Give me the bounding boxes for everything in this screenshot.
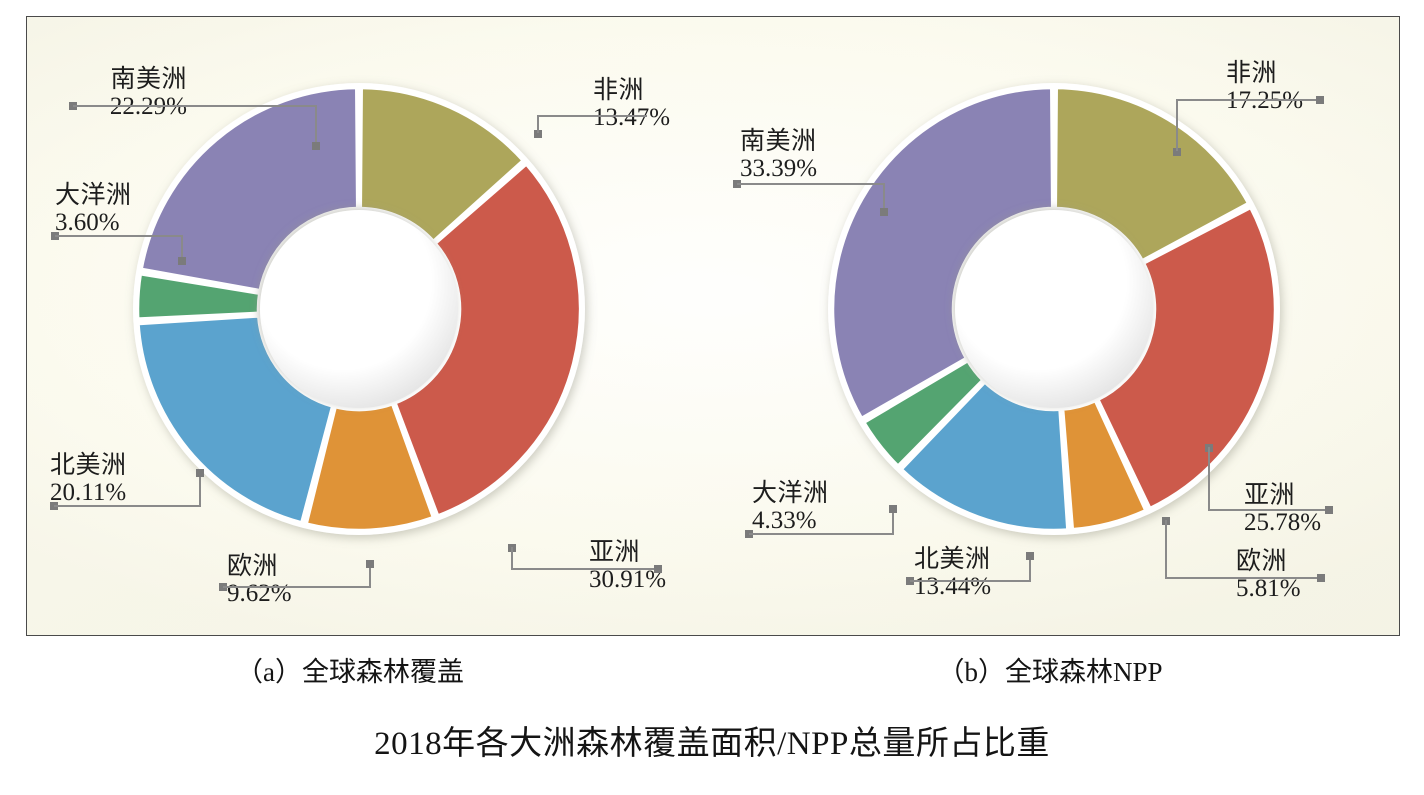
leader-line — [511, 547, 513, 570]
leader-line — [55, 235, 183, 237]
leader-line — [1165, 577, 1320, 579]
label-name: 北美洲 — [50, 453, 210, 478]
caption-chart-a: （a）全球森林覆盖 — [70, 650, 630, 689]
donut-hole — [955, 210, 1153, 408]
leader-anchor-dot — [889, 505, 897, 513]
leader-anchor-dot — [312, 142, 320, 150]
label-name: 亚洲 — [1244, 483, 1414, 508]
leader-line — [749, 533, 894, 535]
leader-line — [1165, 520, 1167, 578]
leader-dot — [654, 565, 662, 573]
label-value: 3.60% — [55, 210, 205, 235]
leader-line — [1176, 99, 1319, 101]
label-oceania-b: 大洋洲 4.33% — [752, 481, 902, 533]
label-name: 南美洲 — [740, 129, 920, 154]
label-value: 4.33% — [752, 508, 902, 533]
label-value: 9.62% — [227, 581, 377, 606]
leader-line — [223, 586, 371, 588]
leader-line — [315, 105, 317, 146]
figure-title: 2018年各大洲森林覆盖面积/NPP总量所占比重 — [0, 716, 1424, 764]
leader-anchor-dot — [366, 560, 374, 568]
donut-hole — [260, 210, 458, 408]
donut-chart-forest-npp: 南美洲 33.39% 非洲 17.25% 大洋洲 4.33% 北美洲 13.44… — [714, 17, 1401, 635]
leader-line — [737, 183, 885, 185]
leader-dot — [1317, 574, 1325, 582]
label-south-america-b: 南美洲 33.39% — [740, 129, 920, 181]
leader-line — [54, 505, 201, 507]
leader-line — [73, 105, 316, 107]
label-europe-a: 欧洲 9.62% — [227, 554, 377, 606]
label-value: 5.81% — [1236, 576, 1386, 601]
label-value: 20.11% — [50, 480, 210, 505]
label-value: 13.44% — [914, 574, 1074, 599]
caption-chart-b: （b）全球森林NPP — [770, 650, 1330, 689]
label-south-america-a: 南美洲 22.29% — [7, 67, 187, 119]
leader-dot — [1316, 96, 1324, 104]
leader-line — [511, 568, 657, 570]
leader-line — [199, 473, 201, 506]
leader-line — [910, 580, 1031, 582]
label-name: 欧洲 — [227, 554, 377, 579]
leader-line — [537, 115, 647, 117]
label-name: 大洋洲 — [752, 481, 902, 506]
leader-line — [1208, 447, 1210, 510]
label-africa-b: 非洲 17.25% — [1226, 61, 1396, 113]
leader-anchor-dot — [196, 469, 204, 477]
label-oceania-a: 大洋洲 3.60% — [55, 183, 205, 235]
leader-line — [1176, 99, 1178, 151]
label-name: 南美洲 — [7, 67, 187, 92]
leader-anchor-dot — [1026, 552, 1034, 560]
label-name: 大洋洲 — [55, 183, 205, 208]
label-name: 非洲 — [1226, 61, 1396, 86]
label-value: 17.25% — [1226, 88, 1396, 113]
label-europe-b: 欧洲 5.81% — [1236, 549, 1386, 601]
label-north-america-a: 北美洲 20.11% — [50, 453, 210, 505]
leader-line — [537, 115, 539, 133]
label-name: 北美洲 — [914, 547, 1074, 572]
label-value: 22.29% — [7, 94, 187, 119]
label-name: 欧洲 — [1236, 549, 1386, 574]
donut-chart-forest-cover: 南美洲 22.29% 非洲 13.47% 大洋洲 3.60% 北美洲 20.11… — [27, 17, 714, 635]
leader-anchor-dot — [178, 257, 186, 265]
leader-line — [1208, 509, 1328, 511]
label-value: 33.39% — [740, 156, 920, 181]
figure-frame: 南美洲 22.29% 非洲 13.47% 大洋洲 3.60% 北美洲 20.11… — [26, 16, 1400, 636]
label-north-america-b: 北美洲 13.44% — [914, 547, 1074, 599]
leader-anchor-dot — [880, 208, 888, 216]
leader-dot — [1325, 506, 1333, 514]
